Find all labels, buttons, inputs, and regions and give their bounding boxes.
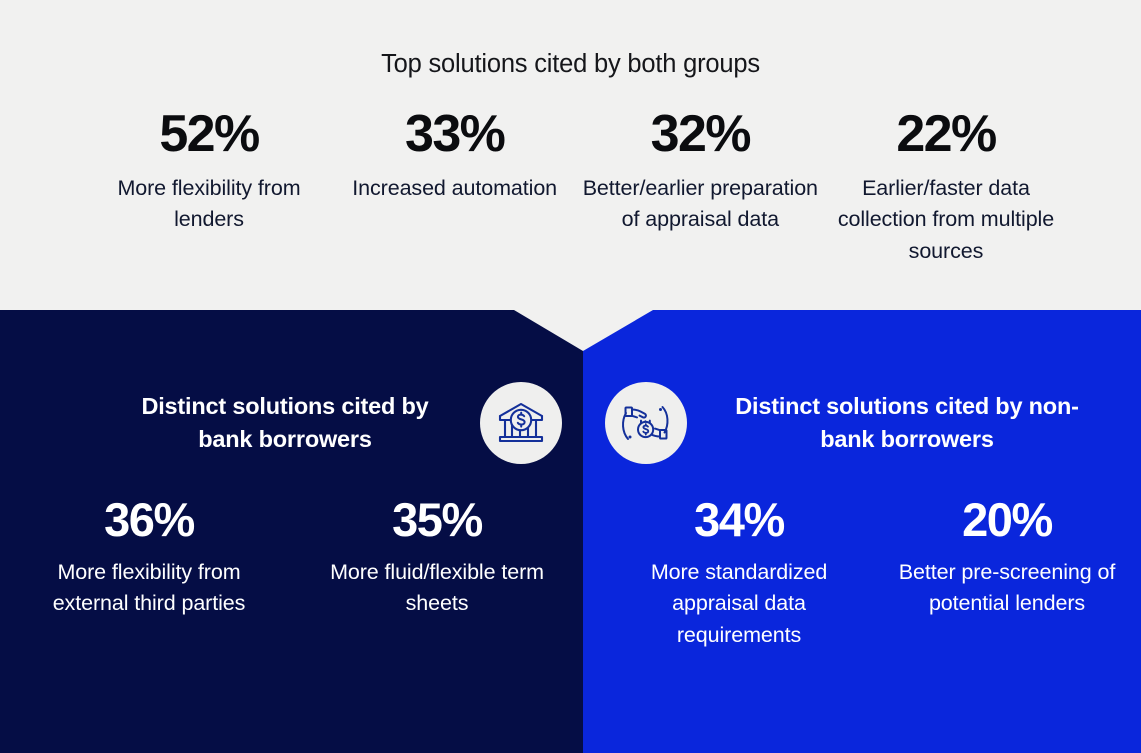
stat-block: 20% Better pre-screening of potential le…: [881, 496, 1133, 620]
hands-exchange-dollar-icon: [605, 382, 687, 464]
bank-borrowers-panel: Distinct solutions cited by bank borrowe…: [0, 310, 583, 753]
stat-percent: 36%: [18, 496, 280, 545]
stat-label: Better pre-screening of potential lender…: [881, 557, 1133, 620]
stat-label: More standardized appraisal data require…: [613, 557, 865, 652]
stat-block: 34% More standardized appraisal data req…: [613, 496, 865, 652]
top-section: Top solutions cited by both groups 52% M…: [0, 0, 1141, 310]
stat-block: 22% Earlier/faster data collection from …: [827, 108, 1065, 267]
stat-label: More flexibility from lenders: [90, 173, 328, 236]
non-bank-borrowers-stats-row: 34% More standardized appraisal data req…: [613, 496, 1133, 652]
stat-percent: 22%: [827, 108, 1065, 161]
stat-label: Earlier/faster data collection from mult…: [827, 173, 1065, 267]
bank-dollar-icon: [480, 382, 562, 464]
stat-block: 32% Better/earlier preparation of apprai…: [581, 108, 819, 236]
stat-percent: 33%: [336, 108, 574, 161]
non-bank-borrowers-header: Distinct solutions cited by non-bank bor…: [605, 382, 1105, 464]
bottom-section: Distinct solutions cited by bank borrowe…: [0, 310, 1141, 753]
stat-percent: 32%: [581, 108, 819, 161]
top-stats-row: 52% More flexibility from lenders 33% In…: [90, 108, 1065, 267]
bank-borrowers-stats-row: 36% More flexibility from external third…: [18, 496, 568, 620]
stat-label: Better/earlier preparation of appraisal …: [581, 173, 819, 236]
non-bank-borrowers-title: Distinct solutions cited by non-bank bor…: [709, 390, 1105, 457]
stat-percent: 52%: [90, 108, 328, 161]
stat-percent: 20%: [881, 496, 1133, 545]
stat-label: More fluid/flexible term sheets: [306, 557, 568, 620]
stat-label: Increased automation: [336, 173, 574, 204]
infographic-root: Top solutions cited by both groups 52% M…: [0, 0, 1141, 753]
stat-block: 36% More flexibility from external third…: [18, 496, 280, 620]
stat-block: 52% More flexibility from lenders: [90, 108, 328, 236]
non-bank-borrowers-panel: Distinct solutions cited by non-bank bor…: [583, 310, 1141, 753]
page-title: Top solutions cited by both groups: [0, 50, 1141, 79]
bank-borrowers-header: Distinct solutions cited by bank borrowe…: [112, 382, 562, 464]
stat-percent: 35%: [306, 496, 568, 545]
stat-block: 35% More fluid/flexible term sheets: [306, 496, 568, 620]
stat-label: More flexibility from external third par…: [18, 557, 280, 620]
bank-borrowers-title: Distinct solutions cited by bank borrowe…: [112, 390, 458, 457]
stat-percent: 34%: [613, 496, 865, 545]
stat-block: 33% Increased automation: [336, 108, 574, 204]
